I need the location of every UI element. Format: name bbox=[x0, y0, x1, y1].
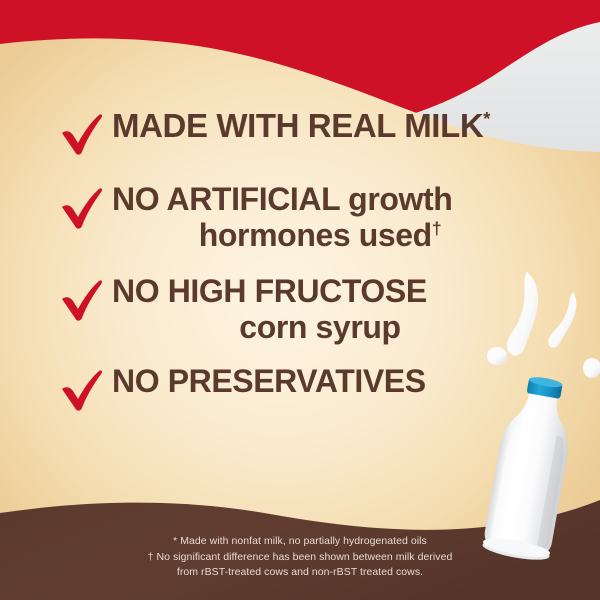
claim-line-2: corn syrup bbox=[112, 310, 528, 345]
footnote-line-1: * Made with nonfat milk, no partially hy… bbox=[0, 534, 600, 550]
milk-splash-small bbox=[548, 290, 578, 349]
claim-text: NO PRESERVATIVES bbox=[112, 364, 528, 399]
footnote-line-3: from rBST-treated cows and non-rBST trea… bbox=[0, 565, 600, 581]
footnote-block: * Made with nonfat milk, no partially hy… bbox=[0, 534, 600, 581]
claim-line-1: MADE WITH REAL MILK bbox=[112, 107, 483, 144]
claim-line-1: NO ARTIFICIAL bbox=[112, 181, 348, 217]
check-icon bbox=[58, 186, 104, 230]
milk-product-claims-banner: MADE WITH REAL MILK* NO ARTIFICIAL growt… bbox=[0, 0, 600, 600]
claim-footnote-marker: † bbox=[432, 218, 441, 238]
claim-text: MADE WITH REAL MILK* bbox=[112, 108, 528, 144]
claims-list: MADE WITH REAL MILK* NO ARTIFICIAL growt… bbox=[58, 108, 528, 426]
claim-item: NO HIGH FRUCTOSE corn syrup bbox=[58, 274, 528, 344]
check-icon bbox=[58, 112, 104, 156]
claim-line-1-lowercase: growth bbox=[348, 181, 452, 217]
claim-footnote-marker: * bbox=[483, 109, 490, 129]
claim-text: NO ARTIFICIAL growth hormones used† bbox=[112, 182, 528, 252]
milk-droplet-right bbox=[583, 358, 600, 378]
claim-item: NO PRESERVATIVES bbox=[58, 364, 528, 412]
claim-line-1: NO HIGH FRUCTOSE bbox=[112, 273, 427, 309]
claim-text: NO HIGH FRUCTOSE corn syrup bbox=[112, 274, 528, 344]
check-icon bbox=[58, 368, 104, 412]
milk-droplet-left bbox=[487, 347, 507, 365]
claim-line-2-wrap: hormones used† bbox=[112, 218, 528, 253]
claim-item: MADE WITH REAL MILK* bbox=[58, 108, 528, 156]
claim-item: NO ARTIFICIAL growth hormones used† bbox=[58, 182, 528, 252]
footnote-line-2: † No significant difference has been sho… bbox=[0, 550, 600, 566]
milk-bottle-illustration bbox=[470, 270, 600, 570]
check-icon bbox=[58, 278, 104, 322]
claim-line-1: NO PRESERVATIVES bbox=[112, 363, 426, 399]
milk-splash-large bbox=[497, 271, 546, 357]
claim-line-2: hormones used bbox=[199, 217, 432, 253]
